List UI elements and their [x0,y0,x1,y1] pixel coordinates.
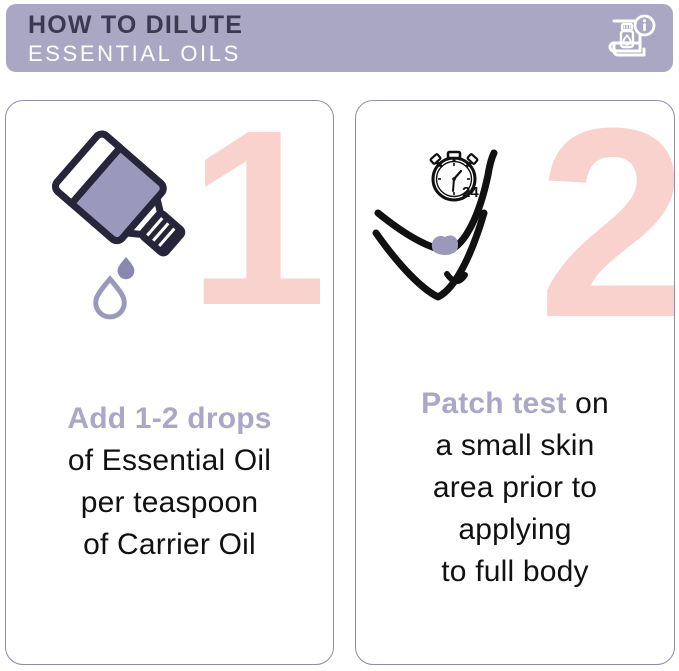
step-body-line-1c: of Carrier Oil [10,524,329,566]
skin-patch-mark [432,235,458,255]
header-text-block: HOW TO DILUTE ESSENTIAL OILS [28,10,243,68]
step-body-line-1b: per teaspoon [10,482,329,524]
stopwatch-hours-label: 24 [462,184,479,201]
step-card-2: 2 [355,100,675,665]
step-number-1: 1 [188,100,327,343]
step-body-line-2d: to full body [360,551,670,593]
step-card-1: 1 [5,100,334,665]
page-subtitle: ESSENTIAL OILS [28,40,243,68]
step-text-1: Add 1-2 drops of Essential Oil per teasp… [10,398,329,566]
page-title: HOW TO DILUTE [28,10,243,40]
arm-patch-test-icon: 24 [370,127,560,332]
stopwatch-icon: 24 [430,152,479,201]
step-body-line-2a: a small skin [360,425,670,467]
step-lead-suffix-2: on [567,387,609,420]
dropper-bottle-icon [22,125,202,350]
step-lead-2: Patch test [421,387,566,420]
step-body-line-2c: applying [360,509,670,551]
bottle-info-book-icon [605,12,657,64]
header-bar: HOW TO DILUTE ESSENTIAL OILS [6,4,673,72]
step-text-2: Patch test on a small skin area prior to… [360,383,670,593]
step-lead-line-2: Patch test on [360,383,670,425]
oil-drop-outline [96,279,125,317]
oil-drop-filled [118,257,135,279]
step-lead-1: Add 1-2 drops [10,398,329,440]
step-body-line-2b: area prior to [360,467,670,509]
step-body-line-1a: of Essential Oil [10,440,329,482]
